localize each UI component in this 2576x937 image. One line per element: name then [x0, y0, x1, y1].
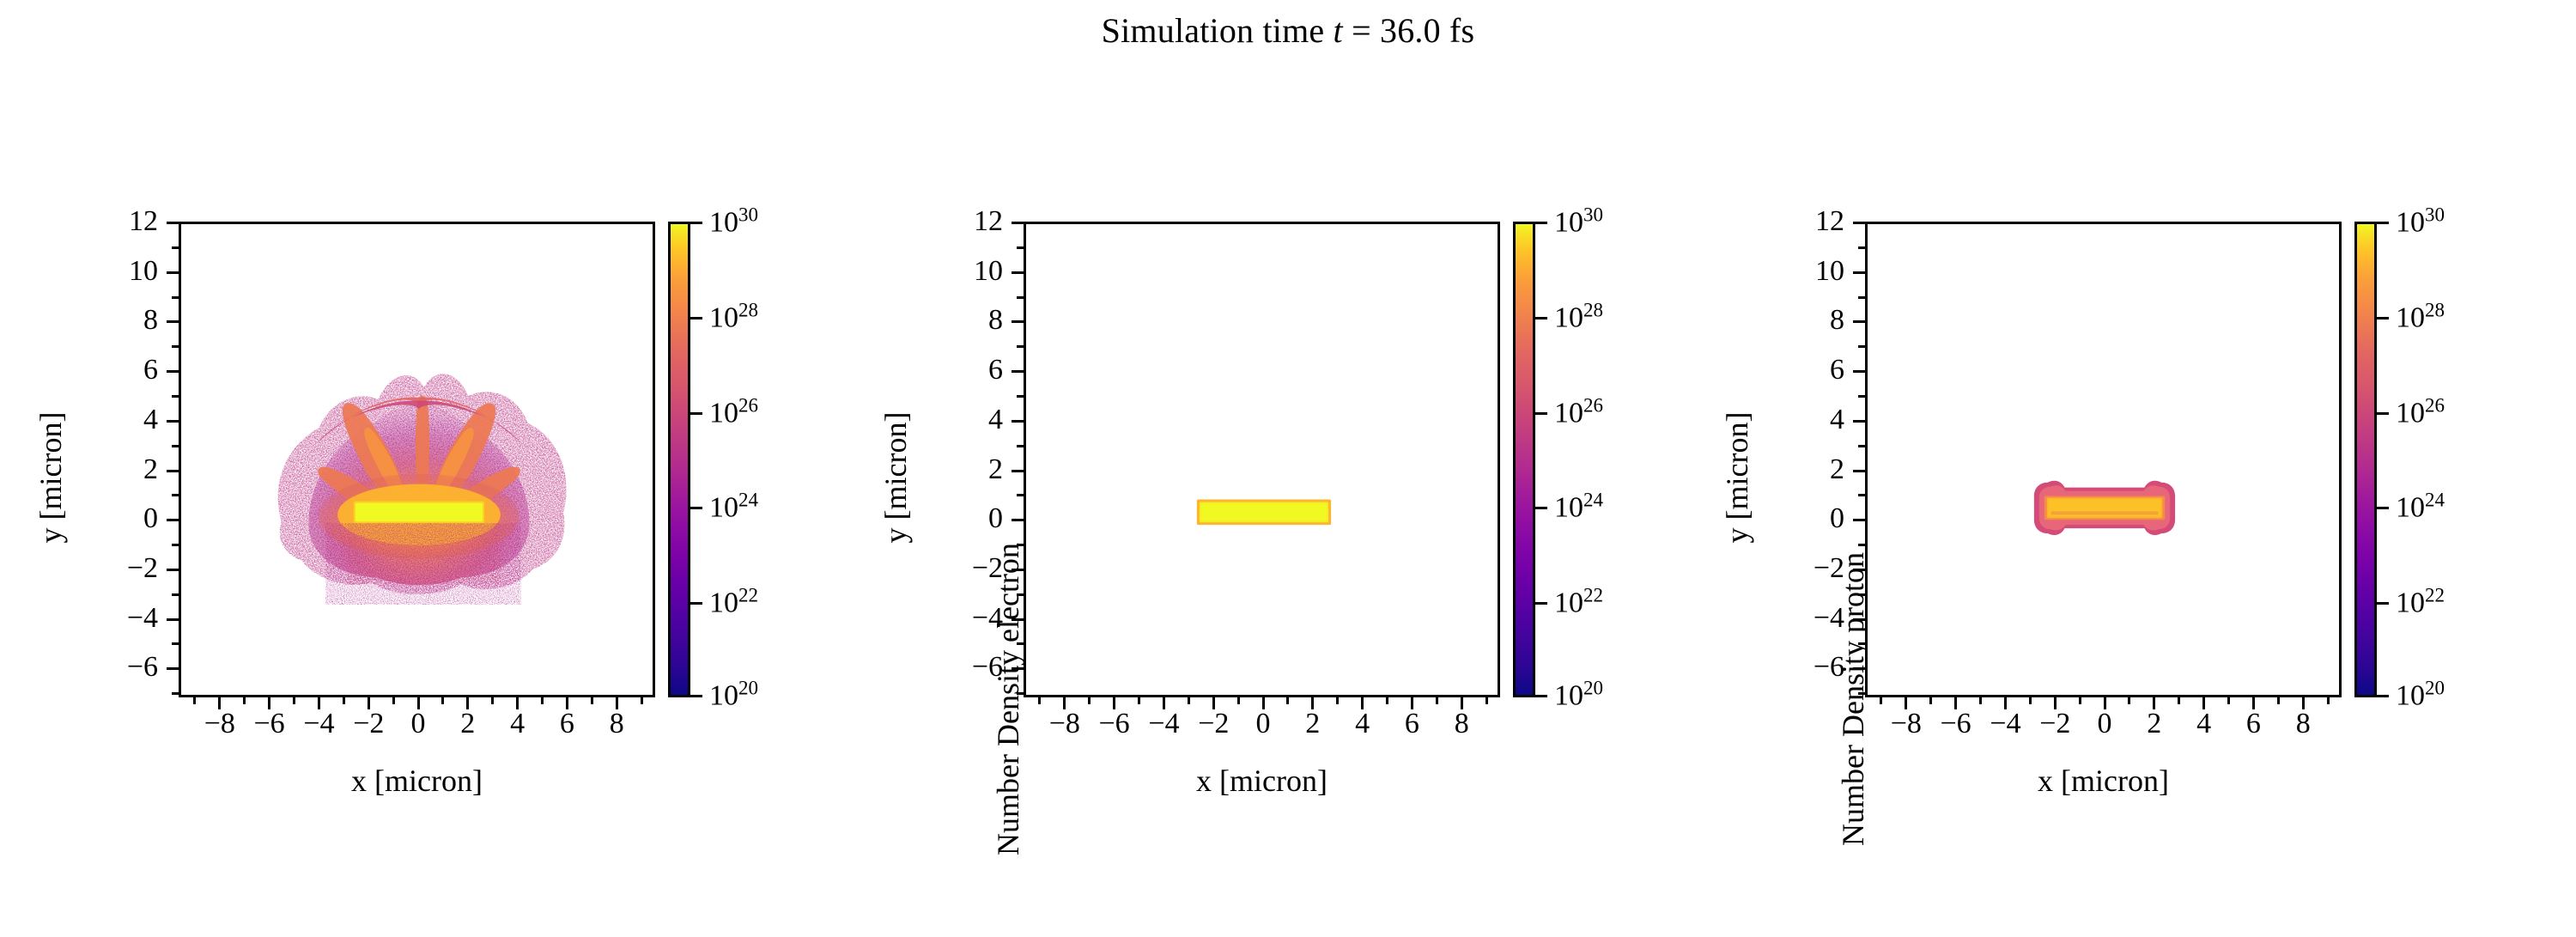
x-tick-label: −6 — [1941, 708, 1971, 740]
y-axis-electron: 12 10 8 6 4 2 0 −2 −4 −6 — [0, 222, 172, 697]
cb-mantissa: 10 — [709, 301, 738, 333]
y-tick-label: 6 — [988, 354, 1003, 386]
colorbar-tick-label: 1028 — [1554, 299, 1603, 334]
y-tick-label: 8 — [1830, 304, 1844, 337]
y-tick-label: 6 — [1830, 354, 1844, 386]
cb-mantissa: 10 — [2396, 207, 2425, 239]
cb-mantissa: 10 — [709, 397, 738, 429]
y-tick-label: 0 — [143, 502, 158, 535]
x-tick-label: 6 — [560, 708, 574, 740]
cb-exponent: 22 — [2425, 585, 2445, 606]
cb-mantissa: 10 — [2396, 680, 2425, 712]
cb-exponent: 24 — [1583, 490, 1603, 511]
y-tick-label: 10 — [1815, 255, 1844, 288]
y-tick-label: 2 — [988, 453, 1003, 486]
y-tick-label: −6 — [127, 651, 158, 684]
cb-exponent: 20 — [1583, 677, 1603, 698]
cb-mantissa: 10 — [1554, 207, 1583, 239]
y-axis-proton: 12 10 8 6 4 2 0 −2 −4 −6 — [845, 222, 1017, 697]
y-tick-label: 8 — [143, 304, 158, 337]
colorbar-title-holder-electron: Number Density electron — [777, 222, 799, 697]
x-axis-title: x [micron] — [1024, 763, 1500, 799]
x-tick-label: 0 — [1256, 708, 1271, 740]
x-tick-label: −4 — [1148, 708, 1179, 740]
cb-exponent: 22 — [738, 585, 758, 606]
x-tick-label: 0 — [411, 708, 426, 740]
x-tick-label: −2 — [353, 708, 384, 740]
x-tick-label: −2 — [2039, 708, 2070, 740]
x-axis-title: x [micron] — [1865, 763, 2342, 799]
panel-electron: 12 10 8 6 4 2 0 −2 −4 −6 — [0, 0, 859, 902]
cb-exponent: 24 — [2425, 490, 2445, 511]
colorbar-gold: 1030 1028 1026 1024 1022 1020 — [2354, 222, 2377, 697]
cb-exponent: 20 — [738, 677, 758, 698]
x-tick-label: 4 — [510, 708, 525, 740]
panel-gold: 12 10 8 6 4 2 0 −2 −4 −6 — [1686, 0, 2545, 902]
x-tick-label: 2 — [460, 708, 475, 740]
colorbar-gradient — [1513, 222, 1535, 697]
x-tick-label: 6 — [2246, 708, 2261, 740]
y-tick-label: 12 — [129, 205, 158, 238]
cb-exponent: 28 — [1583, 299, 1603, 320]
cb-exponent: 30 — [738, 204, 758, 225]
y-tick-label: −6 — [1814, 651, 1844, 684]
figure-canvas: Simulation time t = 36.0 fs — [0, 0, 2576, 902]
cb-exponent: 30 — [2425, 204, 2445, 225]
data-proton — [1026, 224, 1498, 695]
x-tick-label: 0 — [2098, 708, 2112, 740]
cb-exponent: 24 — [738, 490, 758, 511]
y-tick-label: 4 — [143, 404, 158, 436]
x-tick-label: 4 — [2196, 708, 2211, 740]
x-tick-label: 4 — [1355, 708, 1370, 740]
colorbar-tick-label: 1024 — [1554, 490, 1603, 525]
cb-mantissa: 10 — [709, 680, 738, 712]
y-tick-label: −4 — [972, 602, 1003, 635]
colorbar-tick-label: 1028 — [2396, 299, 2445, 334]
y-axis-title: y [micron] — [878, 240, 914, 715]
y-tick-label: 12 — [974, 205, 1003, 238]
y-tick-label: 10 — [974, 255, 1003, 288]
y-tick-label: −4 — [1814, 602, 1844, 635]
cb-mantissa: 10 — [2396, 397, 2425, 429]
y-tick-label: 12 — [1815, 205, 1844, 238]
y-tick-label: −4 — [127, 602, 158, 635]
colorbar-title-holder-gold: Number Density gold — [2464, 222, 2486, 697]
y-tick-label: 0 — [1830, 502, 1844, 535]
cb-exponent: 30 — [1583, 204, 1603, 225]
x-tick-label: −4 — [303, 708, 334, 740]
colorbar-tick-label: 1028 — [709, 299, 758, 334]
x-tick-label: −6 — [1099, 708, 1130, 740]
y-axis-title: y [micron] — [33, 240, 69, 715]
colorbar-tick-label: 1022 — [1554, 585, 1603, 620]
x-tick-label: 8 — [1455, 708, 1469, 740]
cb-mantissa: 10 — [2396, 301, 2425, 333]
x-tick-label: 2 — [1305, 708, 1320, 740]
cb-mantissa: 10 — [1554, 587, 1583, 619]
cb-exponent: 26 — [1583, 394, 1603, 416]
x-tick-label: 8 — [610, 708, 624, 740]
cb-mantissa: 10 — [1554, 680, 1583, 712]
axes-electron — [179, 222, 655, 697]
x-tick-label: 2 — [2147, 708, 2161, 740]
y-tick-label: 4 — [1830, 404, 1844, 436]
cb-exponent: 22 — [1583, 585, 1603, 606]
y-axis-gold: 12 10 8 6 4 2 0 −2 −4 −6 — [1686, 222, 1858, 697]
y-tick-label: −2 — [972, 552, 1003, 585]
cb-mantissa: 10 — [1554, 397, 1583, 429]
y-axis-title: y [micron] — [1719, 240, 1755, 715]
colorbar-tick-label: 1026 — [709, 394, 758, 429]
y-tick-label: 8 — [988, 304, 1003, 337]
cb-mantissa: 10 — [709, 207, 738, 239]
colorbar-tick-label: 1022 — [2396, 585, 2445, 620]
colorbar-gradient — [2354, 222, 2377, 697]
x-axis-electron: −8 −6 −4 −2 0 2 4 6 8 — [179, 708, 655, 751]
y-tick-label: −6 — [972, 651, 1003, 684]
cb-mantissa: 10 — [1554, 301, 1583, 333]
x-tick-label: −4 — [1990, 708, 2020, 740]
x-tick-label: −8 — [1891, 708, 1922, 740]
colorbar-tick-label: 1026 — [2396, 394, 2445, 429]
cb-exponent: 28 — [738, 299, 758, 320]
colorbar-tick-label: 1024 — [709, 490, 758, 525]
axes-gold — [1865, 222, 2342, 697]
x-axis-gold: −8 −6 −4 −2 0 2 4 6 8 — [1865, 708, 2342, 751]
cb-mantissa: 10 — [1554, 492, 1583, 524]
x-tick-label: 8 — [2296, 708, 2311, 740]
cb-mantissa: 10 — [2396, 587, 2425, 619]
x-axis-proton: −8 −6 −4 −2 0 2 4 6 8 — [1024, 708, 1500, 751]
y-tick-label: −2 — [1814, 552, 1844, 585]
colorbar-title-holder-proton: Number Density proton — [1622, 222, 1644, 697]
x-tick-label: 6 — [1405, 708, 1419, 740]
y-tick-label: 2 — [143, 453, 158, 486]
axes-proton — [1024, 222, 1500, 697]
data-gold — [1868, 224, 2339, 695]
cb-exponent: 28 — [2425, 299, 2445, 320]
cb-mantissa: 10 — [709, 587, 738, 619]
y-tick-label: 6 — [143, 354, 158, 386]
colorbar-gradient — [668, 222, 690, 697]
x-tick-label: −2 — [1198, 708, 1229, 740]
x-tick-label: −8 — [204, 708, 235, 740]
cb-mantissa: 10 — [709, 492, 738, 524]
y-tick-label: 10 — [129, 255, 158, 288]
x-tick-label: −6 — [254, 708, 285, 740]
panel-proton: 12 10 8 6 4 2 0 −2 −4 −6 — [845, 0, 1704, 902]
colorbar-tick-label: 1030 — [2396, 204, 2445, 239]
colorbar-tick-label: 1026 — [1554, 394, 1603, 429]
colorbar-tick-label: 1030 — [709, 204, 758, 239]
data-electron — [181, 224, 653, 695]
cb-mantissa: 10 — [2396, 492, 2425, 524]
y-tick-label: 0 — [988, 502, 1003, 535]
colorbar-proton: 1030 1028 1026 1024 1022 1020 — [1513, 222, 1535, 697]
colorbar-tick-label: 1020 — [709, 677, 758, 712]
cb-exponent: 26 — [738, 394, 758, 416]
x-axis-title: x [micron] — [179, 763, 655, 799]
colorbar-tick-label: 1024 — [2396, 490, 2445, 525]
colorbar-electron: 1030 1028 1026 1024 1022 1020 — [668, 222, 690, 697]
colorbar-tick-label: 1020 — [2396, 677, 2445, 712]
y-tick-label: 4 — [988, 404, 1003, 436]
cb-exponent: 26 — [2425, 394, 2445, 416]
x-tick-label: −8 — [1049, 708, 1080, 740]
colorbar-tick-label: 1022 — [709, 585, 758, 620]
colorbar-tick-label: 1020 — [1554, 677, 1603, 712]
y-tick-label: −2 — [127, 552, 158, 585]
y-tick-label: 2 — [1830, 453, 1844, 486]
cb-exponent: 20 — [2425, 677, 2445, 698]
colorbar-tick-label: 1030 — [1554, 204, 1603, 239]
